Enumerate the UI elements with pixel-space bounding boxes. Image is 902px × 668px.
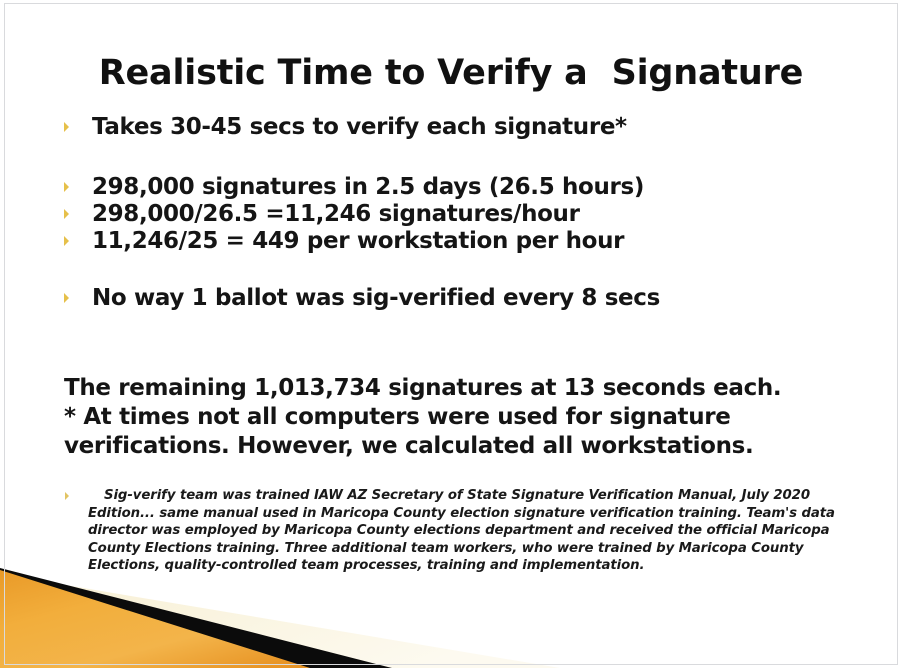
list-item-label: Takes 30-45 secs to verify each signatur… xyxy=(92,114,627,140)
cream-wedge xyxy=(0,574,560,668)
bullet-arrow-icon xyxy=(64,236,71,246)
bullet-arrow-icon xyxy=(65,492,71,500)
summary-line-2: * At times not all computers were used f… xyxy=(64,403,854,461)
black-stripe xyxy=(0,568,392,668)
list-item: No way 1 ballot was sig-verified every 8… xyxy=(62,286,852,311)
slide-canvas: Realistic Time to Verify a Signature Tak… xyxy=(0,0,902,668)
list-item: Takes 30-45 secs to verify each signatur… xyxy=(62,115,852,140)
list-item-label: 298,000 signatures in 2.5 days (26.5 hou… xyxy=(92,174,644,200)
bullet-arrow-icon xyxy=(64,209,71,219)
page-title: Realistic Time to Verify a Signature xyxy=(0,53,902,93)
list-item: 11,246/25 = 449 per workstation per hour xyxy=(62,229,852,254)
bullet-arrow-icon xyxy=(64,182,71,192)
list-item-label: 298,000/26.5 =11,246 signatures/hour xyxy=(92,201,580,227)
summary-line-1: The remaining 1,013,734 signatures at 13… xyxy=(64,374,854,403)
orange-triangle xyxy=(0,570,310,668)
list-item-label: 11,246/25 = 449 per workstation per hour xyxy=(92,228,624,254)
summary-paragraph: The remaining 1,013,734 signatures at 13… xyxy=(64,374,854,461)
footnote-item: Sig-verify team was trained IAW AZ Secre… xyxy=(64,487,846,575)
footnote: Sig-verify team was trained IAW AZ Secre… xyxy=(64,487,846,575)
bullet-arrow-icon xyxy=(64,122,71,132)
bullet-list: Takes 30-45 secs to verify each signatur… xyxy=(62,115,852,313)
spacer xyxy=(62,142,852,175)
bullet-arrow-icon xyxy=(64,293,71,303)
list-item: 298,000 signatures in 2.5 days (26.5 hou… xyxy=(62,175,852,200)
list-item: 298,000/26.5 =11,246 signatures/hour xyxy=(62,202,852,227)
spacer xyxy=(62,256,852,286)
footnote-text: Sig-verify team was trained IAW AZ Secre… xyxy=(88,488,835,573)
list-item-label: No way 1 ballot was sig-verified every 8… xyxy=(92,285,660,311)
